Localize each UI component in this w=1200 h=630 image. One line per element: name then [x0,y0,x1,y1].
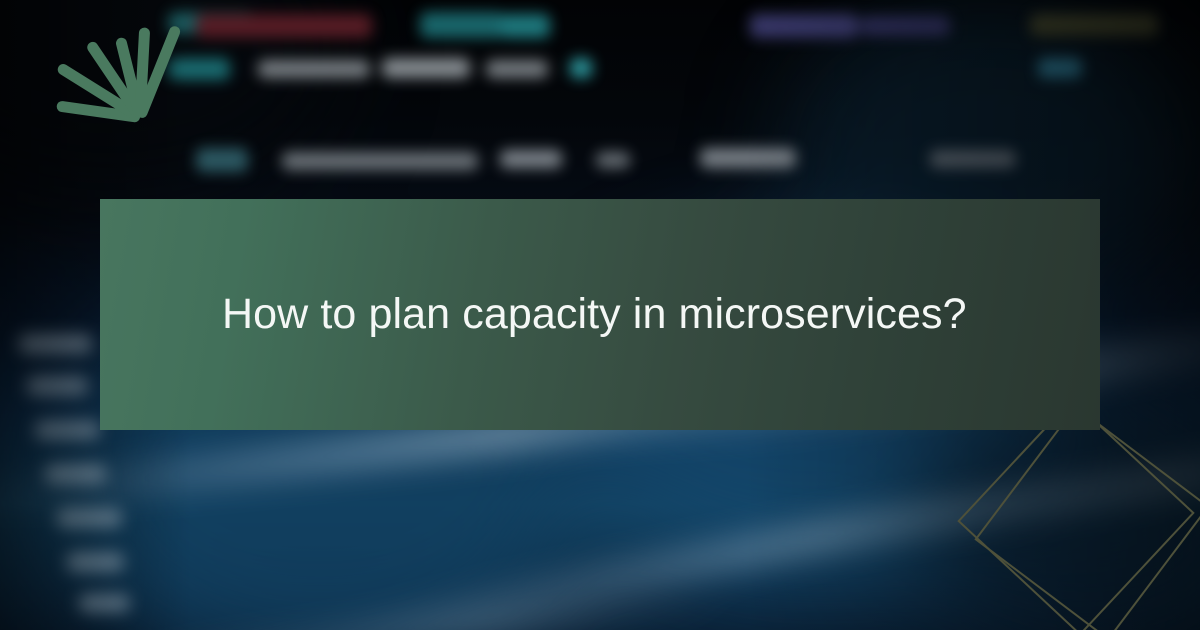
title-panel: How to plan capacity in microservices? [100,199,1100,430]
page-title: How to plan capacity in microservices? [222,290,967,339]
og-card: How to plan capacity in microservices? [0,0,1200,630]
